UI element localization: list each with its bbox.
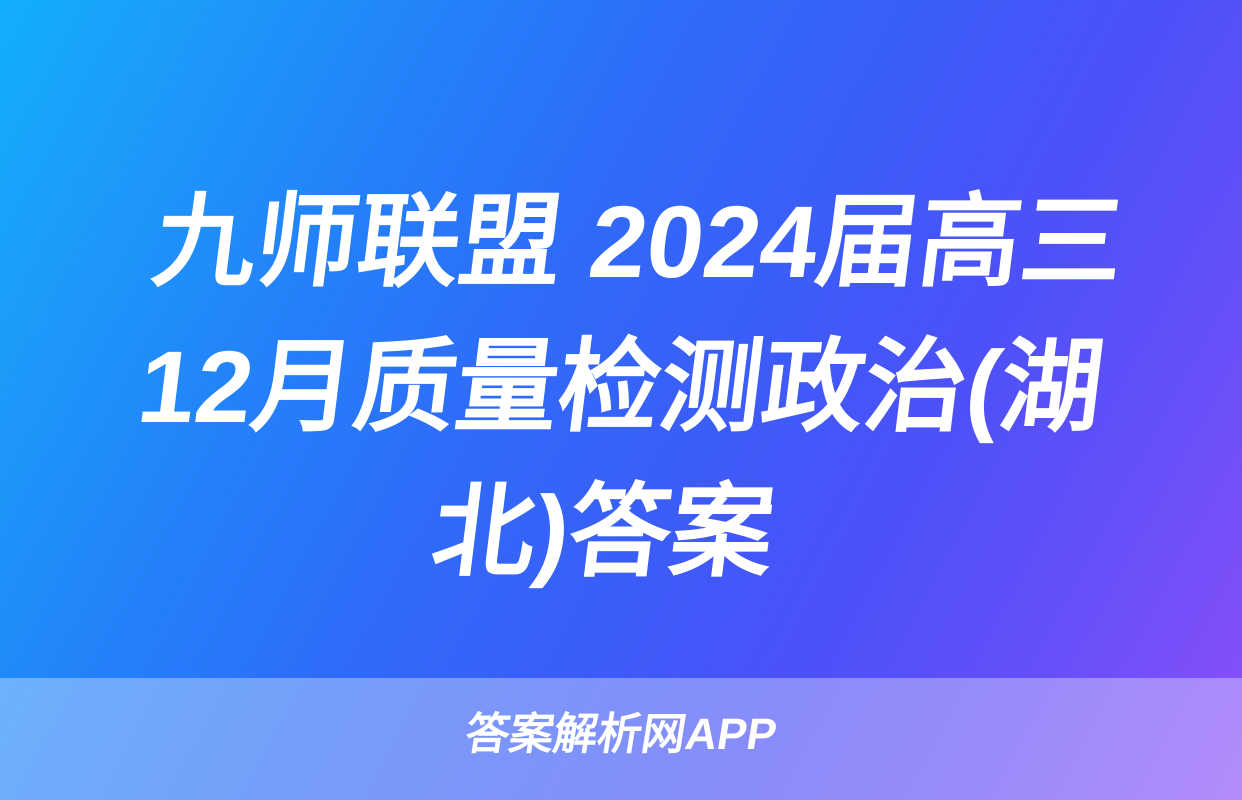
watermark-label: 答案解析网APP: [462, 713, 779, 757]
page-title-text: 九师联盟 2024届高三12月质量检测政治(湖北)答案: [53, 170, 1188, 605]
watermark-app-name: 答案解析网APP: [0, 700, 1242, 770]
poster-canvas: 九师联盟 2024届高三12月质量检测政治(湖北)答案 答案解析网APP: [0, 0, 1242, 800]
page-title: 九师联盟 2024届高三12月质量检测政治(湖北)答案: [53, 170, 1188, 605]
